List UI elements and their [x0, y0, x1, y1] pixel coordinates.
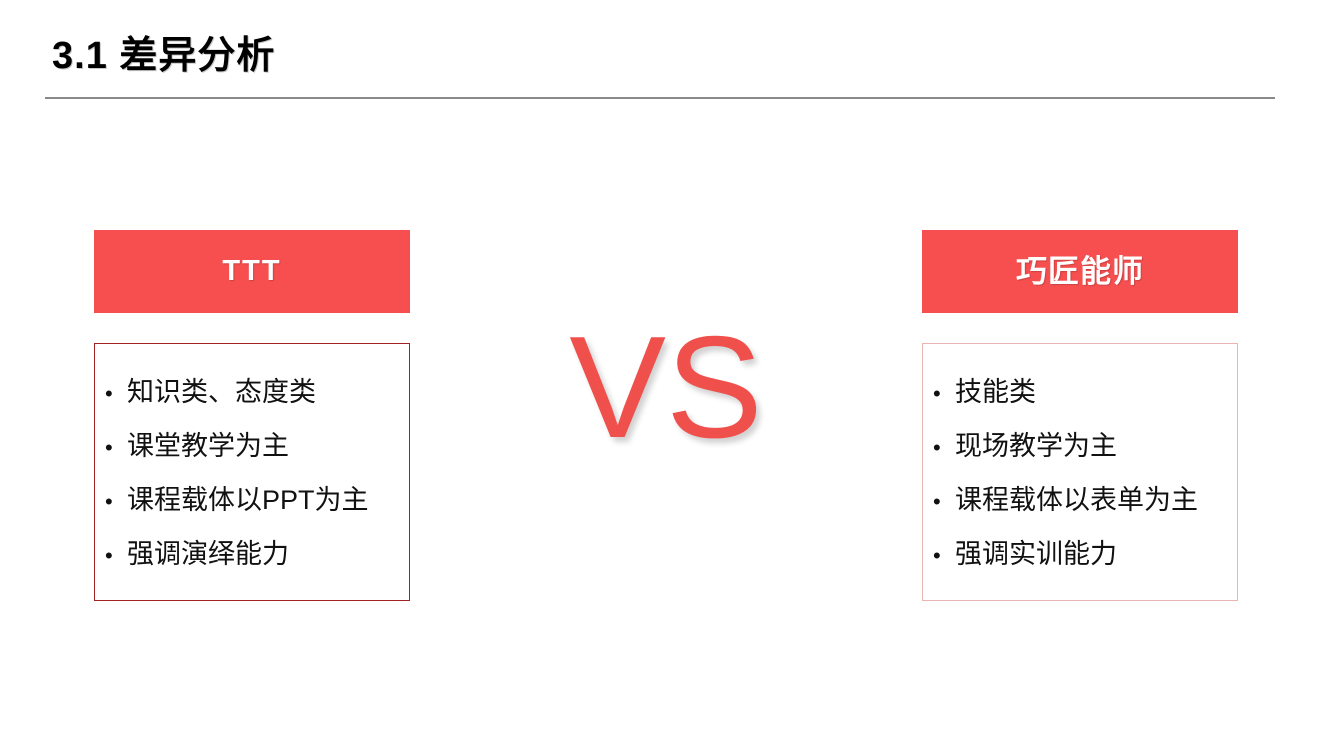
list-item-label: 课堂教学为主: [127, 420, 289, 472]
left-panel-header-label: TTT: [222, 257, 281, 286]
right-panel-header-label: 巧匠能师: [1016, 256, 1144, 287]
bullet-dot-icon: •: [933, 530, 955, 582]
bullet-dot-icon: •: [933, 422, 955, 474]
list-item: • 现场教学为主: [933, 420, 1227, 474]
list-item: • 技能类: [933, 366, 1227, 420]
comparison-column-right: 巧匠能师 • 技能类 • 现场教学为主 • 课程载体以表单为主 • 强调实训能力: [922, 230, 1238, 601]
list-item-label: 课程载体以PPT为主: [127, 474, 369, 526]
list-item: • 课堂教学为主: [105, 420, 399, 474]
bullet-dot-icon: •: [105, 476, 127, 528]
right-bullet-list: • 技能类 • 现场教学为主 • 课程载体以表单为主 • 强调实训能力: [933, 366, 1227, 582]
list-item: • 课程载体以表单为主: [933, 474, 1227, 528]
list-item: • 知识类、态度类: [105, 366, 399, 420]
list-item-label: 技能类: [955, 366, 1036, 418]
left-panel-header: TTT: [94, 230, 410, 313]
list-item-label: 强调演绎能力: [127, 528, 289, 580]
page-title: 3.1 差异分析: [52, 36, 275, 78]
right-panel-header: 巧匠能师: [922, 230, 1238, 313]
list-item-label: 课程载体以表单为主: [955, 474, 1198, 526]
versus-label: VS: [556, 315, 776, 460]
bullet-dot-icon: •: [105, 530, 127, 582]
list-item: • 强调实训能力: [933, 528, 1227, 582]
list-item: • 强调演绎能力: [105, 528, 399, 582]
left-panel-body: • 知识类、态度类 • 课堂教学为主 • 课程载体以PPT为主 • 强调演绎能力: [94, 343, 410, 601]
list-item-label: 强调实训能力: [955, 528, 1117, 580]
title-divider: [45, 97, 1275, 99]
bullet-dot-icon: •: [933, 368, 955, 420]
bullet-dot-icon: •: [105, 368, 127, 420]
comparison-column-left: TTT • 知识类、态度类 • 课堂教学为主 • 课程载体以PPT为主 • 强调…: [94, 230, 410, 601]
list-item-label: 现场教学为主: [955, 420, 1117, 472]
right-panel-body: • 技能类 • 现场教学为主 • 课程载体以表单为主 • 强调实训能力: [922, 343, 1238, 601]
bullet-dot-icon: •: [933, 476, 955, 528]
list-item: • 课程载体以PPT为主: [105, 474, 399, 528]
list-item-label: 知识类、态度类: [127, 366, 316, 418]
bullet-dot-icon: •: [105, 422, 127, 474]
left-bullet-list: • 知识类、态度类 • 课堂教学为主 • 课程载体以PPT为主 • 强调演绎能力: [105, 366, 399, 582]
